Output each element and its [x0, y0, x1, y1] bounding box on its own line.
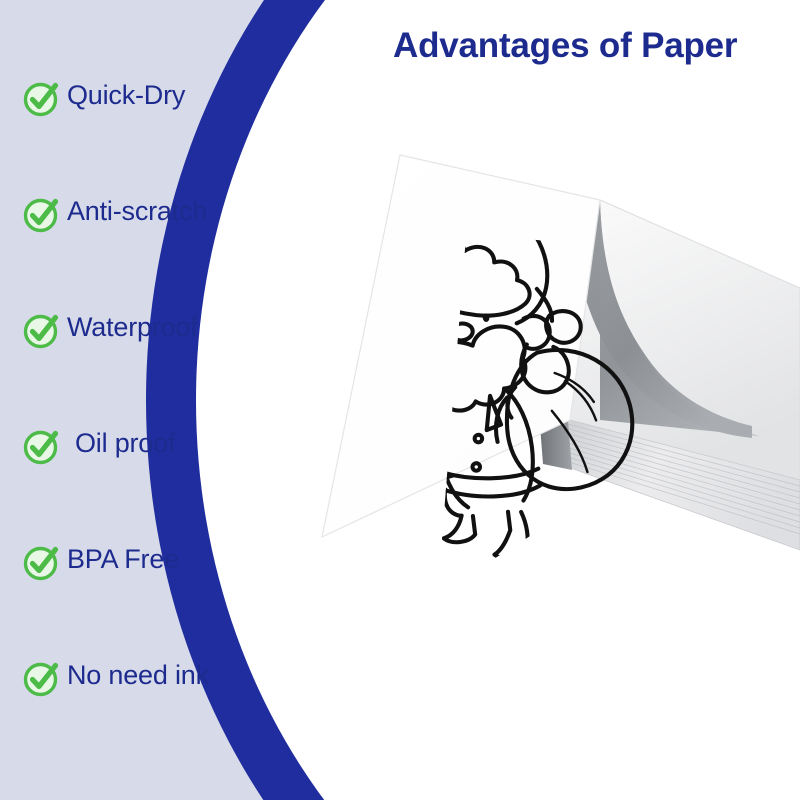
- feature-item-waterproof[interactable]: Waterproof: [22, 310, 322, 426]
- paper-stack-illustration: [300, 120, 800, 600]
- feature-label: BPA Free: [67, 544, 179, 575]
- feature-item-bpa-free[interactable]: BPA Free: [22, 542, 322, 658]
- feature-label: Waterproof: [67, 312, 198, 343]
- feature-label: Anti-scratch: [67, 196, 207, 227]
- check-circle-icon: [22, 194, 62, 234]
- infographic-canvas: Advantages of Paper Quick-Dry Anti-scrat…: [0, 0, 800, 800]
- feature-label: No need ink: [67, 660, 209, 691]
- feature-label: Oil proof: [75, 428, 175, 459]
- check-circle-icon: [22, 78, 62, 118]
- feature-item-anti-scratch[interactable]: Anti-scratch: [22, 194, 322, 310]
- check-circle-icon: [22, 658, 62, 698]
- feature-item-quick-dry[interactable]: Quick-Dry: [22, 78, 322, 194]
- check-circle-icon: [22, 542, 62, 582]
- page-title: Advantages of Paper: [393, 26, 793, 66]
- feature-item-no-need-ink[interactable]: No need ink: [22, 658, 322, 774]
- feature-label: Quick-Dry: [67, 80, 185, 111]
- check-circle-icon: [22, 310, 62, 350]
- feature-list: Quick-Dry Anti-scratch Waterproof: [22, 78, 322, 774]
- check-circle-icon: [22, 426, 62, 466]
- feature-item-oil-proof[interactable]: Oil proof: [22, 426, 322, 542]
